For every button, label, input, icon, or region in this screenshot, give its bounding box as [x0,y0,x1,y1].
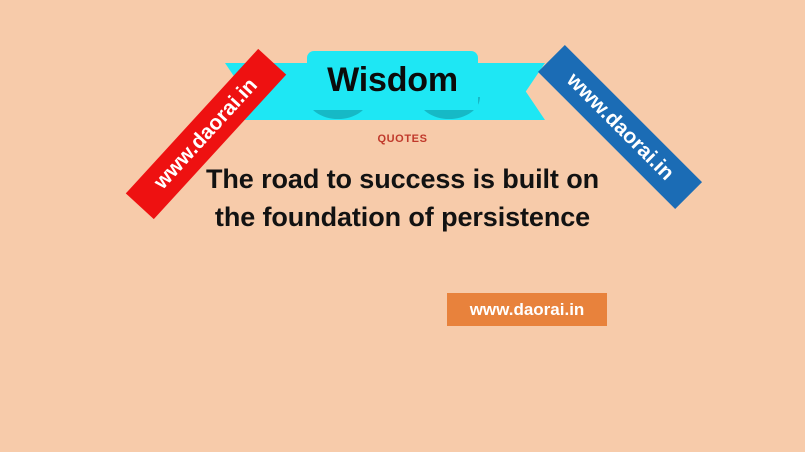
watermark-orange: www.daorai.in [447,293,607,326]
quote-graphic-canvas: Wisdom QUOTES The road to success is bui… [0,0,805,452]
quote-line-2: the foundation of persistence [0,198,805,236]
ribbon-title: Wisdom [307,51,478,110]
category-label: QUOTES [0,133,805,145]
